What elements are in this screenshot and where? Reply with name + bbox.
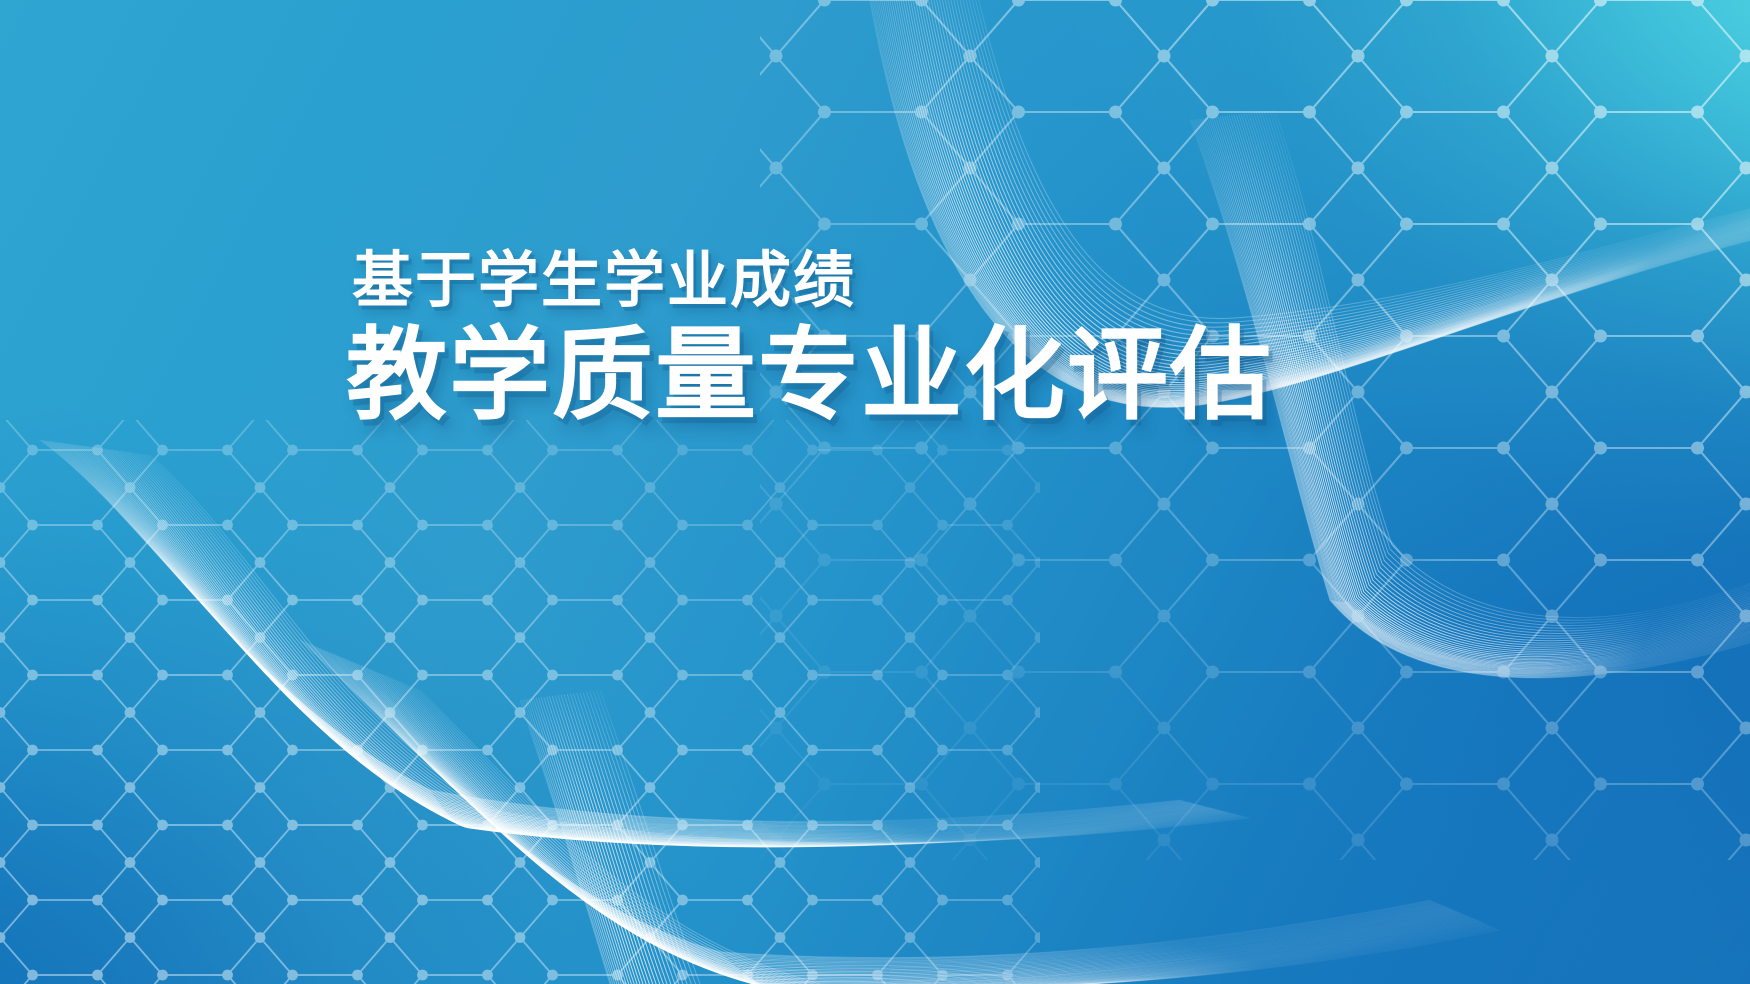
background-right-tint bbox=[0, 0, 1750, 984]
slide-title: 教学质量专业化评估 bbox=[346, 320, 1273, 433]
slide-subtitle: 基于学生学业成绩 bbox=[352, 248, 1273, 314]
title-text-block: 基于学生学业成绩 教学质量专业化评估 bbox=[352, 248, 1273, 433]
presentation-slide: 基于学生学业成绩 教学质量专业化评估 bbox=[0, 0, 1750, 984]
